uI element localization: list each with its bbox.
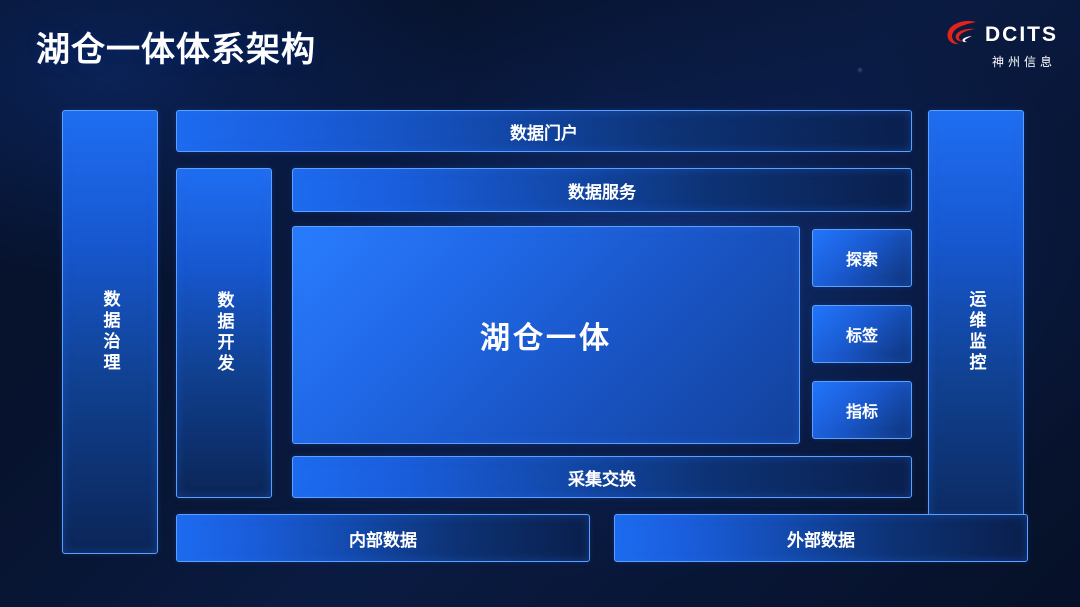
box-metric[interactable]: 指标 <box>812 381 912 439</box>
brand-logo: DCITS 神州信息 <box>938 20 1058 68</box>
logo-row: DCITS <box>945 18 1058 50</box>
box-collect-exchange-label: 采集交换 <box>568 465 636 490</box>
box-tag-label: 标签 <box>846 322 878 346</box>
page-title: 湖仓一体体系架构 <box>36 22 316 71</box>
box-data-governance[interactable]: 数据治理 <box>62 110 158 554</box>
box-internal-data[interactable]: 内部数据 <box>176 514 590 562</box>
box-data-service-label: 数据服务 <box>568 178 636 203</box>
box-internal-data-label: 内部数据 <box>349 526 417 551</box>
box-data-portal-label: 数据门户 <box>510 119 578 144</box>
box-explore[interactable]: 探索 <box>812 229 912 287</box>
logo-wordmark: DCITS <box>985 24 1058 45</box>
box-data-service[interactable]: 数据服务 <box>292 168 912 212</box>
swirl-logo-icon <box>945 18 979 50</box>
box-data-dev[interactable]: 数据开发 <box>176 168 272 498</box>
box-ops-monitor-label: 运维监控 <box>964 290 989 374</box>
slide-canvas: 湖仓一体体系架构 DCITS 神州信息 数据治理 运维监控 数据门户 数据开发 … <box>0 0 1080 607</box>
box-collect-exchange[interactable]: 采集交换 <box>292 456 912 498</box>
logo-subtitle: 神州信息 <box>992 53 1056 70</box>
box-data-dev-label: 数据开发 <box>212 291 237 375</box>
box-metric-label: 指标 <box>846 398 878 422</box>
box-explore-label: 探索 <box>846 246 878 270</box>
box-tag[interactable]: 标签 <box>812 305 912 363</box>
box-lakehouse-core[interactable]: 湖仓一体 <box>292 226 800 444</box>
box-ops-monitor[interactable]: 运维监控 <box>928 110 1024 554</box>
box-lakehouse-label: 湖仓一体 <box>480 313 612 357</box>
box-external-data-label: 外部数据 <box>787 526 855 551</box>
box-external-data[interactable]: 外部数据 <box>614 514 1028 562</box>
box-data-governance-label: 数据治理 <box>98 290 123 374</box>
box-data-portal[interactable]: 数据门户 <box>176 110 912 152</box>
